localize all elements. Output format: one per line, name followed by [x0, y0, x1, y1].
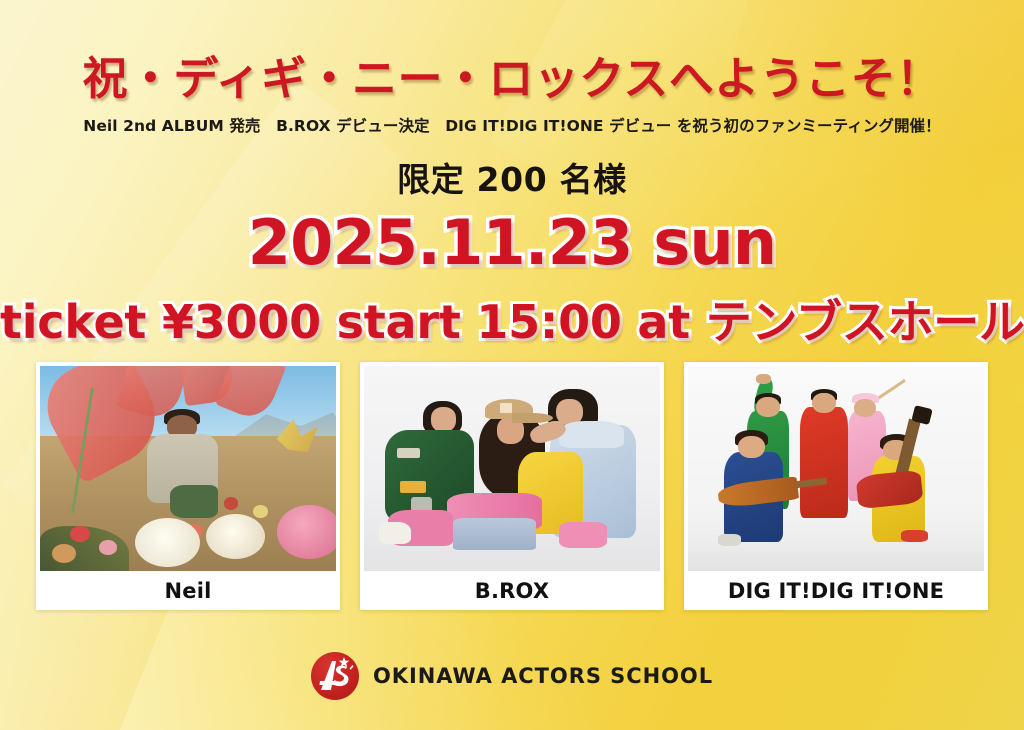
artist-name: B.ROX — [364, 571, 660, 610]
artist-photo-digitdigitone — [688, 366, 984, 571]
capacity-notice: 限定 200 名様 — [0, 153, 1024, 201]
ticket-and-venue-info: ticket ¥3000 start 15:00 at テンブスホール — [0, 286, 1024, 352]
event-date: 2025.11.23 sun — [0, 206, 1024, 279]
artist-name: DIG IT!DIG IT!ONE — [688, 571, 984, 610]
poster-subheadline: Neil 2nd ALBUM 発売 B.ROX デビュー決定 DIG IT!DI… — [0, 114, 1024, 136]
artist-photo-brox — [364, 366, 660, 571]
school-name-label: OKINAWA ACTORS SCHOOL — [373, 664, 713, 688]
artist-card-digitdigitone[interactable]: DIG IT!DIG IT!ONE — [684, 362, 988, 610]
okinawa-actors-school-logo-icon — [311, 652, 359, 700]
artist-card-list: Neil — [36, 362, 988, 610]
event-poster: 祝・ディギ・ニー・ロックスへようこそ！ Neil 2nd ALBUM 発売 B.… — [0, 0, 1024, 730]
poster-headline: 祝・ディギ・ニー・ロックスへようこそ！ — [0, 42, 1024, 107]
artist-name: Neil — [40, 571, 336, 610]
artist-card-brox[interactable]: B.ROX — [360, 362, 664, 610]
artist-card-neil[interactable]: Neil — [36, 362, 340, 610]
poster-footer: OKINAWA ACTORS SCHOOL — [0, 652, 1024, 700]
artist-photo-neil — [40, 366, 336, 571]
